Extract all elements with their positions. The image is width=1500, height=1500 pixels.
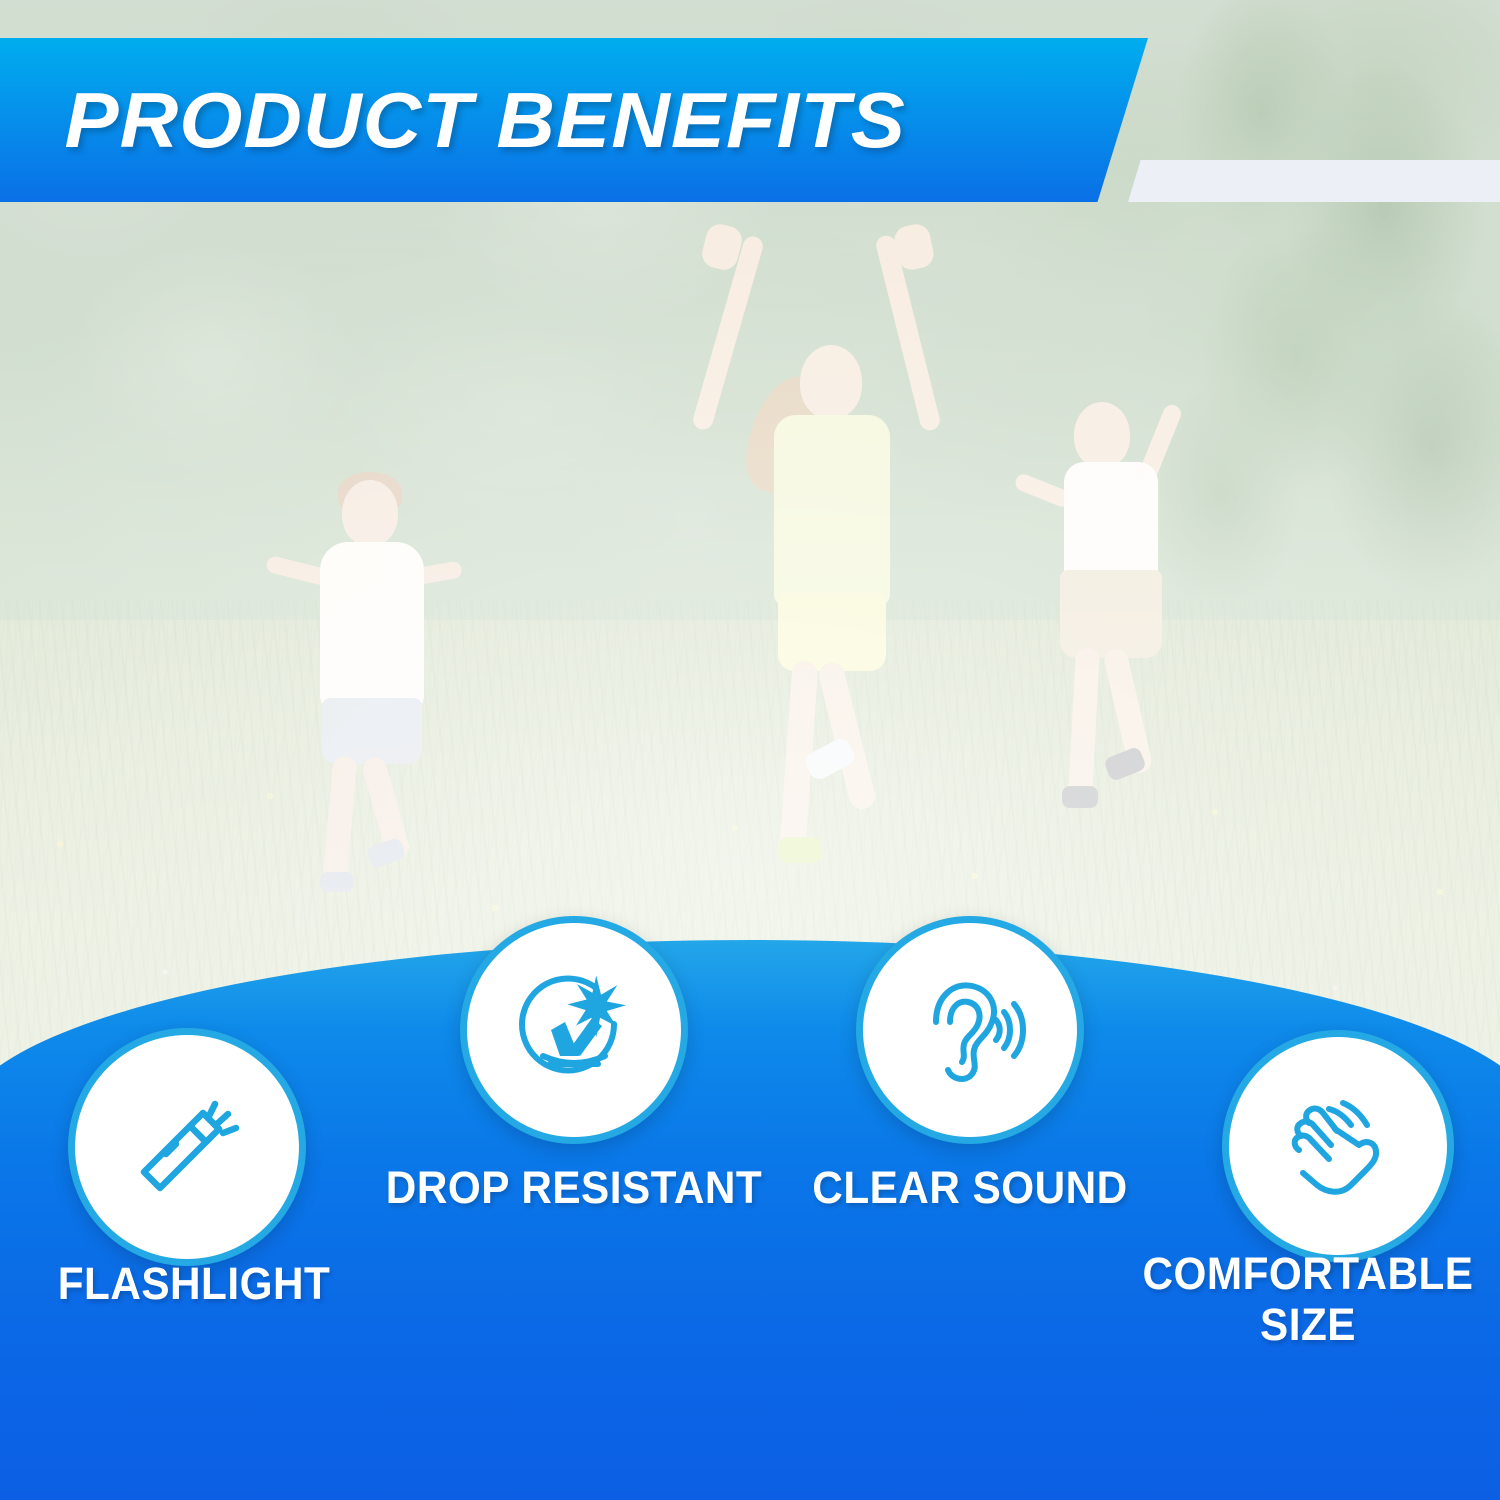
header-accent-bar [1128, 160, 1500, 202]
benefit-label-drop-resistant: DROP RESISTANT [373, 1162, 775, 1213]
open-hand-icon [1273, 1081, 1403, 1211]
benefit-icon-clear-sound[interactable] [856, 916, 1084, 1144]
page-title: PRODUCT BENEFITS [0, 75, 906, 166]
drop-resistant-icon [510, 966, 638, 1094]
child-center [690, 225, 980, 915]
child-right [1000, 380, 1250, 840]
product-benefits-infographic: PRODUCT BENEFITS [0, 0, 1500, 1500]
flashlight-icon [122, 1082, 252, 1212]
ear-sound-waves-icon [906, 966, 1034, 1094]
benefit-label-comfortable-size: COMFORTABLE SIZE [1128, 1248, 1489, 1351]
benefit-label-flashlight: FLASHLIGHT [12, 1258, 377, 1309]
benefit-icon-comfortable-size[interactable] [1222, 1030, 1454, 1262]
benefit-icon-drop-resistant[interactable] [460, 916, 688, 1144]
child-left [250, 470, 510, 900]
header-banner: PRODUCT BENEFITS [0, 38, 1148, 202]
benefit-label-clear-sound: CLEAR SOUND [801, 1162, 1139, 1213]
benefit-icon-flashlight[interactable] [68, 1028, 306, 1266]
